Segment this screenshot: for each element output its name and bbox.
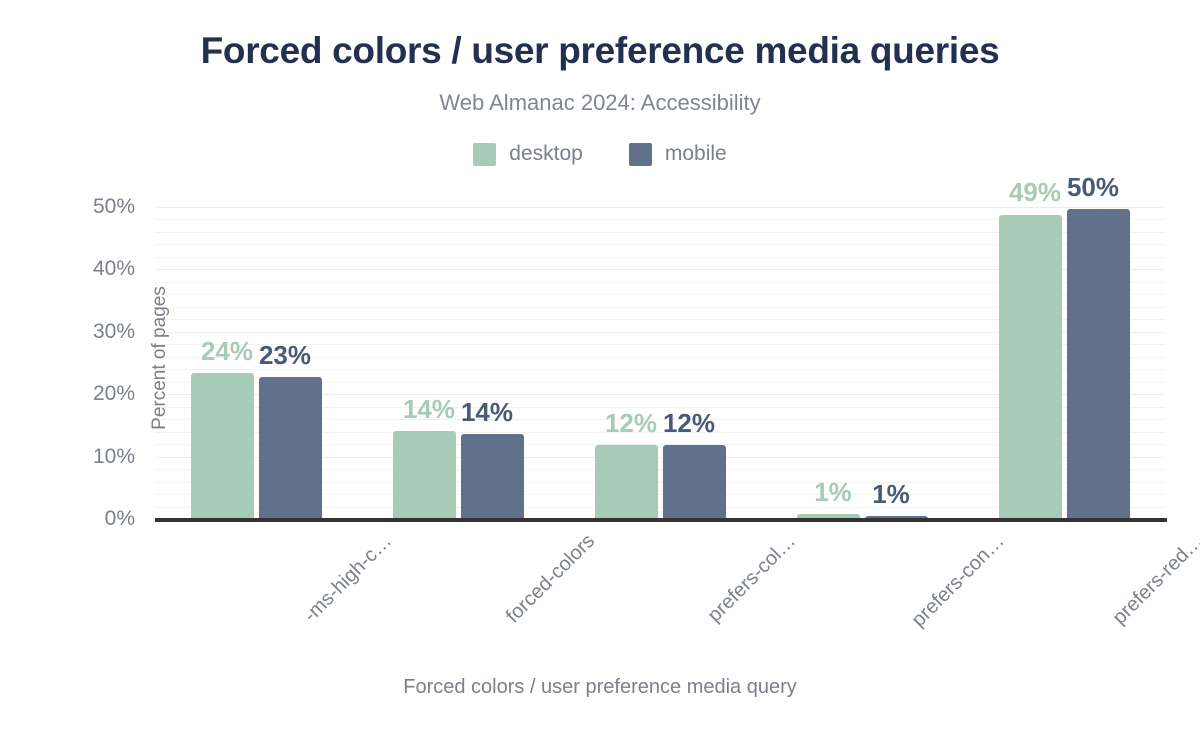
value-label-mobile-0: 23% [259,340,311,371]
legend-swatch-mobile [629,143,652,166]
value-label-desktop-0: 24% [201,336,253,367]
x-tick-label-0: -ms-high-c… [300,530,397,627]
value-label-desktop-1: 14% [403,394,455,425]
chart-subtitle: Web Almanac 2024: Accessibility [0,90,1200,116]
x-tick-label-2: prefers-col… [704,530,801,627]
x-axis-line [155,518,1167,522]
bar-desktop-0[interactable] [191,373,254,519]
chart-legend: desktop mobile [0,142,1200,166]
value-label-mobile-2: 12% [663,408,715,439]
x-tick-label-4: prefers-red… [1109,530,1200,630]
plot-area: 24%23%14%14%12%12%1%1%49%50% Percent of … [155,207,1165,519]
value-label-mobile-4: 50% [1067,172,1119,203]
legend-label-mobile: mobile [665,142,727,166]
chart-title: Forced colors / user preference media qu… [0,30,1200,72]
bar-desktop-2[interactable] [595,445,658,519]
value-label-desktop-2: 12% [605,408,657,439]
y-tick-label: 20% [15,382,135,406]
y-tick-label: 0% [15,507,135,531]
y-tick-label: 50% [15,195,135,219]
legend-swatch-desktop [473,143,496,166]
bar-desktop-1[interactable] [393,431,456,519]
x-tick-label-3: prefers-con… [907,530,1009,632]
x-axis-title: Forced colors / user preference media qu… [0,676,1200,699]
value-label-desktop-4: 49% [1009,177,1061,208]
value-label-desktop-3: 1% [814,477,852,508]
bar-mobile-4[interactable] [1067,209,1130,519]
legend-item-mobile[interactable]: mobile [629,142,727,166]
y-tick-label: 30% [15,320,135,344]
bar-chart: Forced colors / user preference media qu… [0,0,1200,742]
y-tick-label: 10% [15,445,135,469]
value-label-mobile-1: 14% [461,397,513,428]
y-axis-title: Percent of pages [149,238,171,478]
value-label-mobile-3: 1% [872,479,910,510]
bar-mobile-1[interactable] [461,434,524,519]
x-tick-label-1: forced-colors [502,530,600,628]
legend-item-desktop[interactable]: desktop [473,142,583,166]
bar-mobile-0[interactable] [259,377,322,519]
bar-mobile-2[interactable] [663,445,726,519]
bar-desktop-4[interactable] [999,215,1062,520]
legend-label-desktop: desktop [509,142,583,166]
y-tick-label: 40% [15,257,135,281]
